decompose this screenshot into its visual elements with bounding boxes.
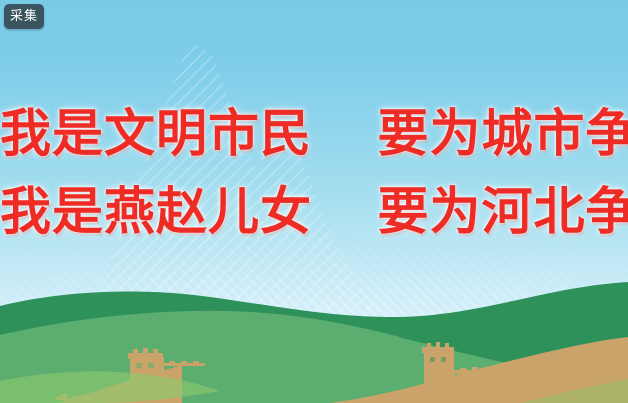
hills-landscape [0, 273, 628, 403]
banner-screenshot: 我是文明市民 要为城市争光 我是燕赵儿女 要为河北争气 采集 [0, 0, 628, 403]
slogan-line-1-right: 要为城市争光 [378, 105, 628, 164]
slogan-line-2: 我是燕赵儿女 要为河北争气 [0, 174, 628, 252]
slogan-line-1: 我是文明市民 要为城市争光 [0, 96, 628, 174]
slogan-line-2-left: 我是燕赵儿女 [0, 183, 312, 242]
slogan-block: 我是文明市民 要为城市争光 我是燕赵儿女 要为河北争气 [0, 96, 628, 252]
capture-button[interactable]: 采集 [4, 4, 44, 29]
slogan-line-2-right: 要为河北争气 [378, 183, 628, 242]
slogan-line-1-left: 我是文明市民 [0, 105, 312, 164]
